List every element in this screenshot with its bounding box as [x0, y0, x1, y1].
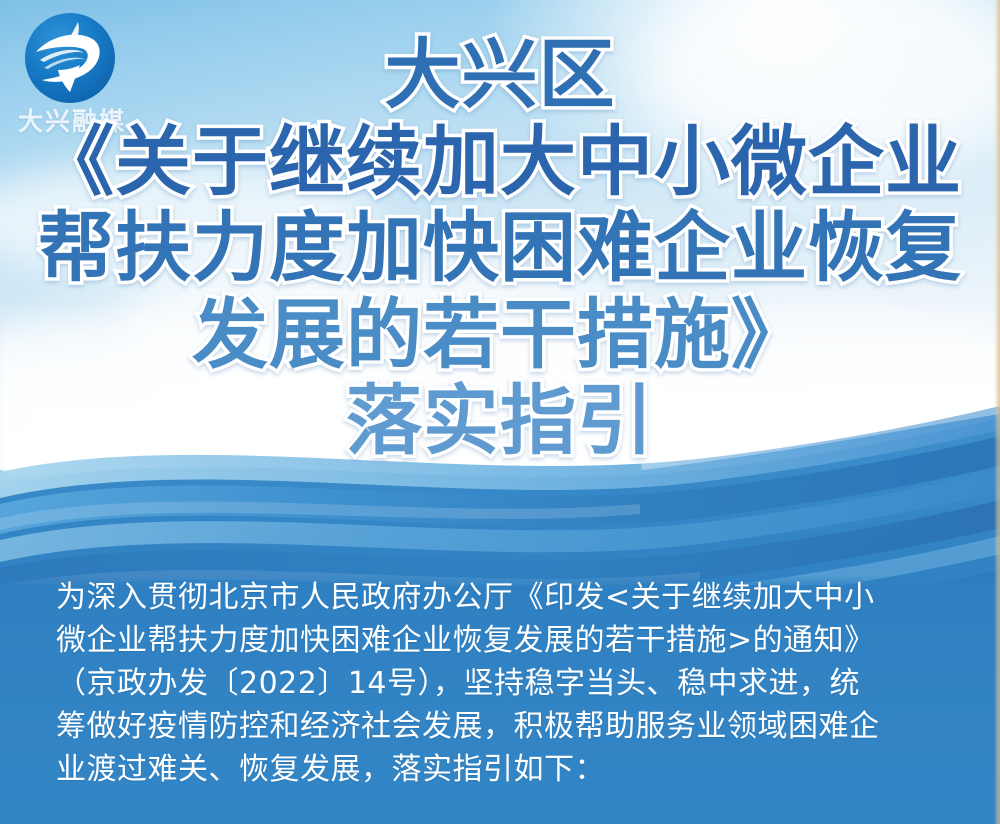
body-line-5: 业渡过难关、恢复发展，落实指引如下：	[56, 748, 952, 791]
body-paragraph: 为深入贯彻北京市人民政府办公厅《印发<关于继续加大中小 微企业帮扶力度加快困难企…	[56, 576, 952, 791]
title-line-5: 落实指引	[0, 382, 1000, 460]
body-line-2: 微企业帮扶力度加快困难企业恢复发展的若干措施>的通知》	[56, 619, 952, 662]
title-line-2: 《关于继续加大中小微企业	[0, 123, 1000, 201]
body-line-4: 筹做好疫情防控和经济社会发展，积极帮助服务业领域困难企	[56, 705, 952, 748]
body-line-3: （京政办发〔2022〕14号），坚持稳字当头、稳中求进，统	[56, 662, 952, 705]
title-line-4: 发展的若干措施》	[0, 296, 1000, 374]
body-line-1: 为深入贯彻北京市人民政府办公厅《印发<关于继续加大中小	[56, 576, 952, 619]
poster-canvas: 大兴融媒 大兴区 《关于继续加大中小微企业 帮扶力度加快困难企业恢复 发展的若干…	[0, 0, 1000, 824]
title-line-1: 大兴区	[0, 36, 1000, 114]
poster-title: 大兴区 《关于继续加大中小微企业 帮扶力度加快困难企业恢复 发展的若干措施》 落…	[0, 36, 1000, 469]
title-line-3: 帮扶力度加快困难企业恢复	[0, 209, 1000, 287]
